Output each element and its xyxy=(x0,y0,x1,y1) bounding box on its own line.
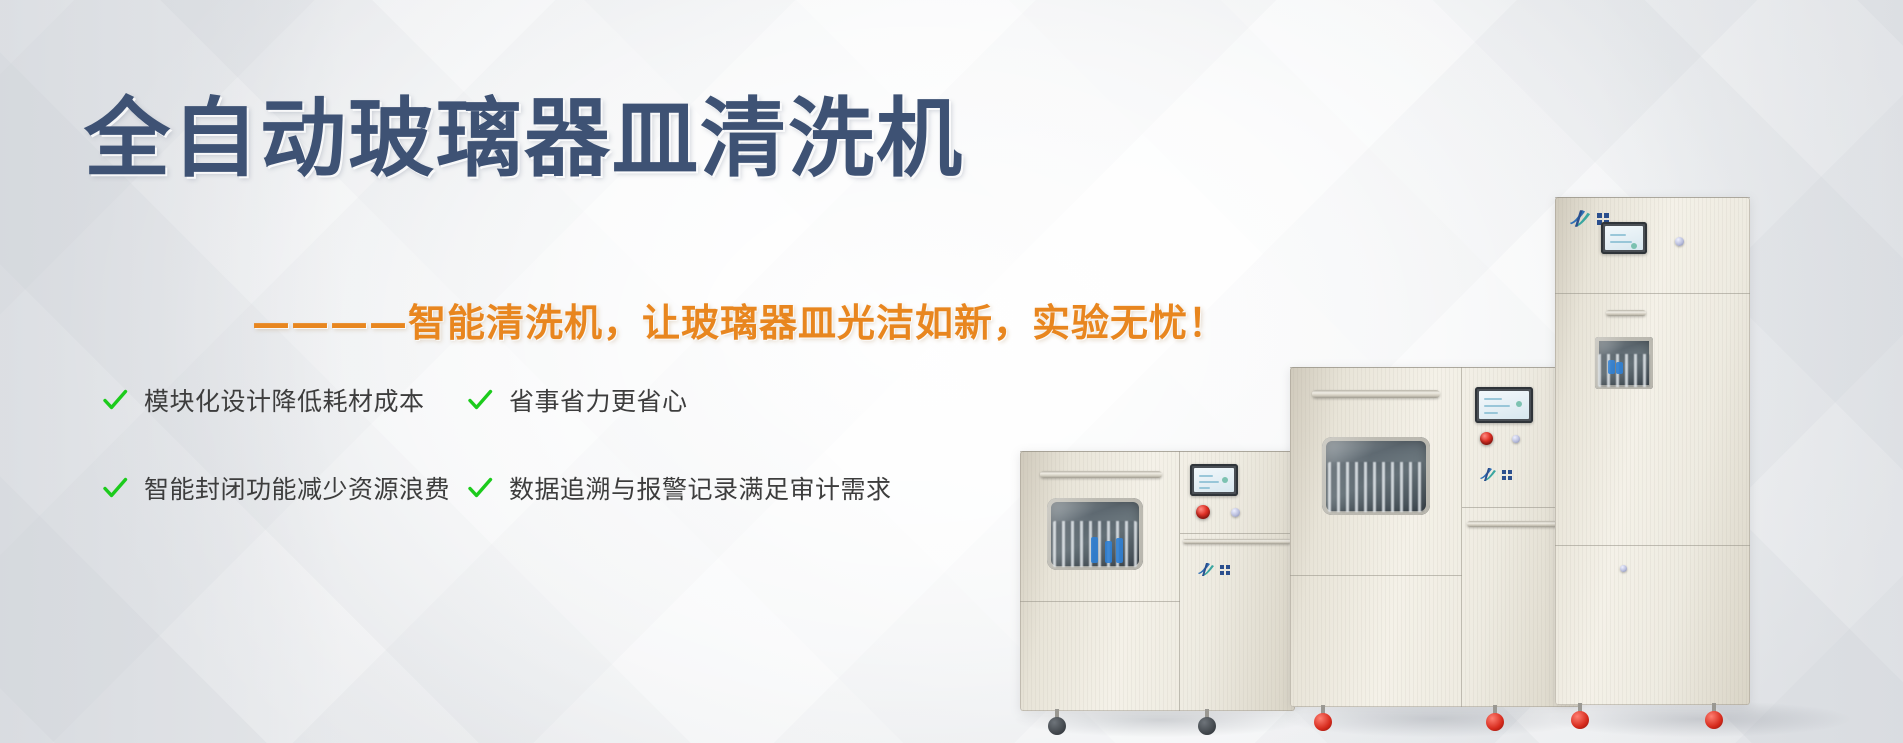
power-indicator[interactable] xyxy=(1231,508,1240,517)
machine-seam xyxy=(1290,575,1462,576)
touchscreen-panel[interactable] xyxy=(1601,222,1647,254)
brand-logo-squares xyxy=(1502,470,1512,480)
check-icon xyxy=(102,387,128,413)
emergency-stop-button[interactable] xyxy=(1196,505,1210,519)
power-indicator[interactable] xyxy=(1675,237,1684,246)
screen-line xyxy=(1199,487,1210,489)
banner-copy: 全自动玻璃器皿清洗机 ————智能清洗机，让玻璃器皿光洁如新，实验无忧！ 模块化… xyxy=(0,0,1150,743)
brand-logo-icon xyxy=(1478,467,1498,482)
screen-line xyxy=(1610,241,1632,243)
machine-seam xyxy=(1020,451,1295,452)
glassware-rack xyxy=(1328,462,1423,512)
pipette xyxy=(1608,360,1615,374)
feature-label-1: 模块化设计降低耗材成本 xyxy=(144,382,425,418)
product-banner: 全自动玻璃器皿清洗机 ————智能清洗机，让玻璃器皿光洁如新，实验无忧！ 模块化… xyxy=(0,0,1903,743)
feature-item-3: 智能封闭功能减少资源浪费 xyxy=(102,470,467,506)
pipette xyxy=(1105,541,1112,563)
machine-body xyxy=(1555,197,1750,705)
machine-seam xyxy=(1555,545,1750,546)
machine-seam xyxy=(1290,367,1580,368)
screen-line xyxy=(1199,481,1219,483)
machine-body xyxy=(1020,451,1295,711)
feature-label-3: 智能封闭功能减少资源浪费 xyxy=(144,470,450,506)
screen-status-dot xyxy=(1222,477,1228,483)
feature-item-1: 模块化设计降低耗材成本 xyxy=(102,382,467,418)
machine-seam xyxy=(1179,451,1180,711)
screen-status-dot xyxy=(1516,401,1522,407)
machine-seam xyxy=(1555,293,1750,294)
check-icon xyxy=(467,475,493,501)
touchscreen-display xyxy=(1479,391,1529,419)
machine-seam xyxy=(1461,367,1462,707)
caster-wheel xyxy=(1314,705,1332,731)
touchscreen-panel[interactable] xyxy=(1475,387,1533,423)
screen-line xyxy=(1484,405,1510,407)
caster-wheel xyxy=(1486,705,1504,731)
brand-logo xyxy=(1196,562,1230,577)
product-glassware-washer-tall[interactable] xyxy=(1555,197,1750,705)
brand-logo-icon xyxy=(1567,209,1593,228)
door-handle[interactable] xyxy=(1606,310,1646,316)
brand-logo-icon xyxy=(1196,562,1216,577)
feature-item-4: 数据追溯与报警记录满足审计需求 xyxy=(467,470,892,506)
product-glassware-washer-compact[interactable] xyxy=(1020,451,1295,711)
caster-wheel xyxy=(1048,709,1066,735)
caster-wheel xyxy=(1198,709,1216,735)
pipette xyxy=(1116,538,1123,563)
touchscreen-panel[interactable] xyxy=(1190,464,1238,496)
pipette xyxy=(1616,362,1623,374)
machine-seam xyxy=(1020,601,1180,602)
feature-item-2: 省事省力更省心 xyxy=(467,382,892,418)
page-title: 全自动玻璃器皿清洗机 xyxy=(84,96,964,184)
check-icon xyxy=(102,475,128,501)
screen-status-dot xyxy=(1631,243,1637,249)
brand-logo-squares xyxy=(1220,565,1230,575)
screen-line xyxy=(1199,475,1213,477)
caster-wheel xyxy=(1705,703,1723,729)
product-image-group xyxy=(1090,0,1903,743)
viewing-window xyxy=(1322,437,1430,515)
pipette xyxy=(1091,537,1098,563)
caster-wheel xyxy=(1571,703,1589,729)
lower-door-handle[interactable] xyxy=(1183,539,1291,544)
glassware-rack xyxy=(1598,354,1649,387)
viewing-window xyxy=(1047,498,1143,570)
screen-line xyxy=(1610,234,1626,236)
touchscreen-display xyxy=(1194,468,1234,492)
door-handle[interactable] xyxy=(1040,471,1162,478)
lower-indicator[interactable] xyxy=(1620,565,1627,572)
door-handle[interactable] xyxy=(1312,390,1440,398)
touchscreen-display xyxy=(1605,226,1643,250)
emergency-stop-button[interactable] xyxy=(1480,432,1493,445)
viewing-window xyxy=(1595,337,1653,389)
power-indicator[interactable] xyxy=(1512,435,1520,443)
feature-label-2: 省事省力更省心 xyxy=(509,382,688,418)
product-glassware-washer-standard[interactable] xyxy=(1290,367,1580,707)
screen-line xyxy=(1484,412,1498,414)
check-icon xyxy=(467,387,493,413)
glassware-rack xyxy=(1053,521,1138,567)
feature-list: 模块化设计降低耗材成本 省事省力更省心 智能封闭功能减少资源浪费 数据追溯与报警… xyxy=(102,382,892,506)
machine-seam xyxy=(1555,197,1750,198)
machine-seam xyxy=(1180,533,1295,534)
brand-logo xyxy=(1478,467,1512,482)
feature-label-4: 数据追溯与报警记录满足审计需求 xyxy=(509,470,892,506)
machine-body xyxy=(1290,367,1580,707)
product-shadow xyxy=(1550,701,1850,737)
page-subtitle: ————智能清洗机，让玻璃器皿光洁如新，实验无忧！ xyxy=(252,292,1227,347)
screen-line xyxy=(1484,398,1502,400)
